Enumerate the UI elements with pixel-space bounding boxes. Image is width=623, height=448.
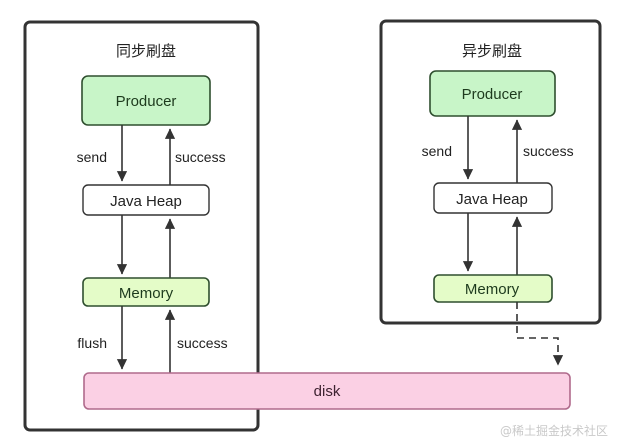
node-disk-label: disk [314, 383, 341, 400]
node-async-java-heap-label: Java Heap [456, 191, 528, 208]
edge-label-async-send: send [422, 143, 452, 159]
panel-sync-flush: 同步刷盘 Producer send success Java Heap Mem… [25, 22, 258, 430]
edge-label-sync-success-lower: success [177, 335, 228, 351]
node-sync-producer-label: Producer [116, 93, 177, 110]
edge-label-sync-flush: flush [77, 335, 107, 351]
node-async-memory-label: Memory [465, 281, 520, 298]
edge-label-sync-success-upper: success [175, 149, 226, 165]
panel-sync-flush-title: 同步刷盘 [116, 42, 176, 60]
diagram-canvas: 同步刷盘 Producer send success Java Heap Mem… [0, 0, 623, 448]
node-async-producer-label: Producer [462, 86, 523, 103]
panel-async-flush-title: 异步刷盘 [462, 42, 522, 60]
node-sync-java-heap-label: Java Heap [110, 193, 182, 210]
panel-async-flush: 异步刷盘 Producer send success Java Heap Mem… [381, 21, 600, 323]
node-sync-memory-label: Memory [119, 285, 174, 302]
flush-strategy-diagram: 同步刷盘 Producer send success Java Heap Mem… [0, 0, 623, 448]
edge-label-async-success-upper: success [523, 143, 574, 159]
edge-label-sync-send: send [77, 149, 107, 165]
watermark-text: @稀土掘金技术社区 [500, 423, 608, 438]
